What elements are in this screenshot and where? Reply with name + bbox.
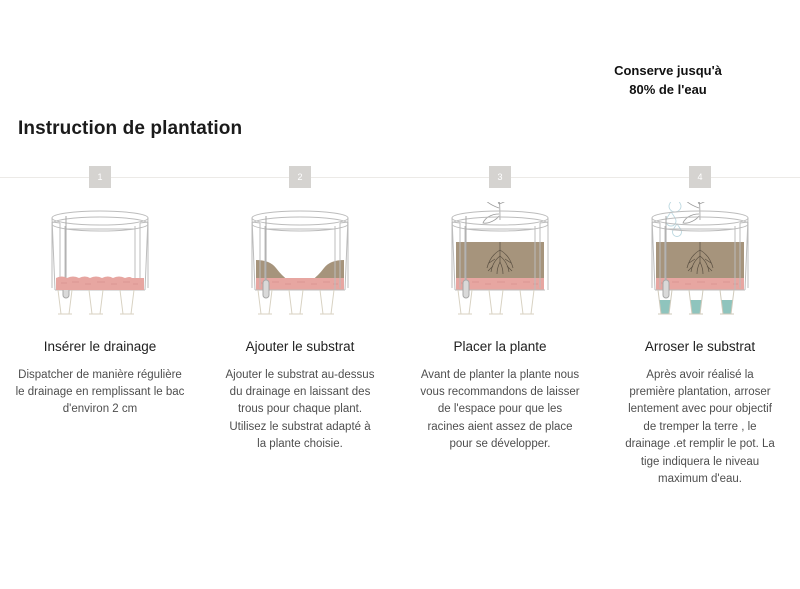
claim-line-2: 80% de l'eau — [568, 81, 768, 100]
step-title-2: Ajouter le substrat — [246, 338, 355, 356]
step-badge-3: 3 — [489, 166, 511, 188]
step-title-1: Insérer le drainage — [44, 338, 157, 356]
step-2: 2 — [200, 166, 400, 526]
instruction-steps: 1 — [0, 166, 800, 526]
planter-watering-svg — [625, 202, 775, 332]
step-badge-4: 4 — [689, 166, 711, 188]
step-3: 3 — [400, 166, 600, 526]
step-description-2: Ajouter le substrat au-dessus du drainag… — [224, 367, 376, 454]
step-1: 1 — [0, 166, 200, 526]
step-badge-1: 1 — [89, 166, 111, 188]
planter-substrate-svg — [225, 202, 375, 332]
step-4: 4 — [600, 166, 800, 526]
drainage-layer — [56, 277, 144, 291]
step-badge-2: 2 — [289, 166, 311, 188]
page-title: Instruction de plantation — [18, 118, 242, 140]
illustration-planter-watering — [625, 202, 775, 332]
illustration-planter-with-substrate — [225, 202, 375, 332]
claim-line-1: Conserve jusqu'à — [568, 62, 768, 81]
water-droplet-icon — [666, 202, 682, 237]
step-description-3: Avant de planter la plante nous vous rec… — [420, 367, 580, 454]
water-saving-claim: Conserve jusqu'à 80% de l'eau — [568, 62, 768, 100]
plant-sketch — [477, 202, 521, 223]
step-title-4: Arroser le substrat — [645, 338, 755, 356]
step-description-4: Après avoir réalisé la première plantati… — [625, 367, 775, 489]
step-description-1: Dispatcher de manière régulière le drain… — [14, 367, 186, 419]
planter-drainage-svg — [25, 202, 175, 332]
illustration-planter-with-drainage — [25, 202, 175, 332]
plant-sketch — [677, 202, 721, 223]
planter-plant-svg — [425, 202, 575, 332]
step-title-3: Placer la plante — [453, 338, 546, 356]
illustration-planter-with-plant — [425, 202, 575, 332]
